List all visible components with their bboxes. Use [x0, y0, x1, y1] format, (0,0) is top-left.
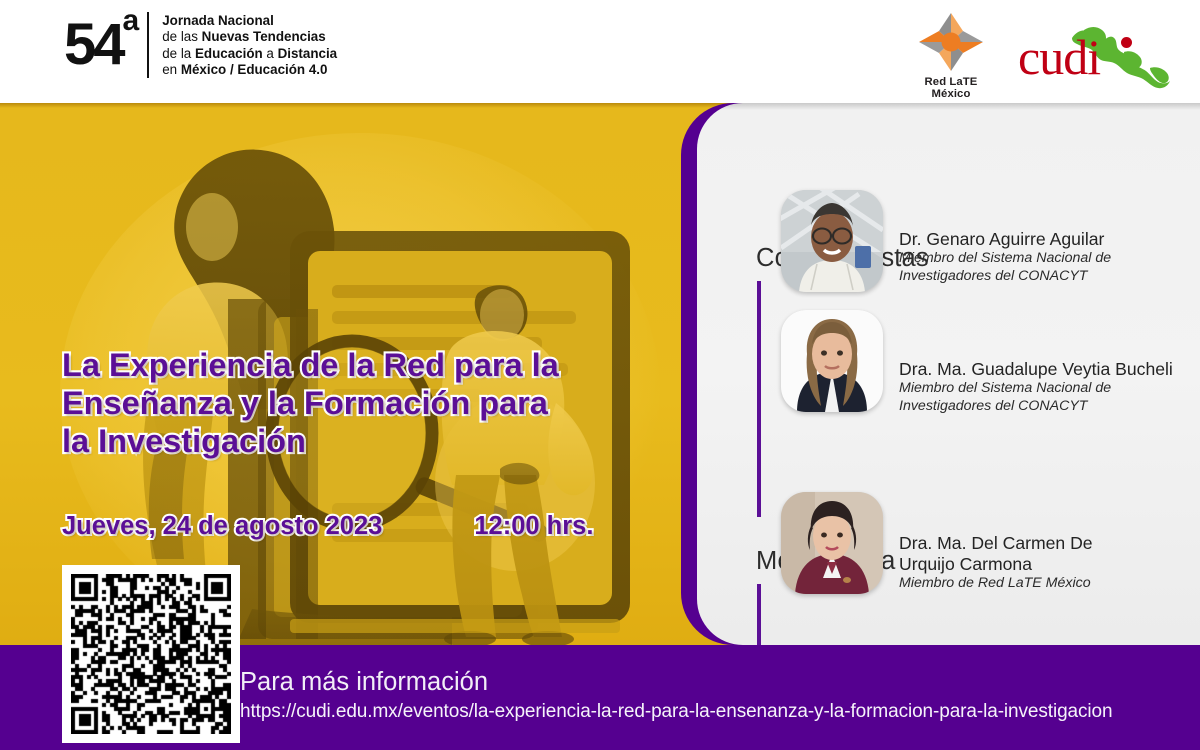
event-title: La Experiencia de la Red para la Enseñan… [62, 346, 662, 460]
speaker-name: Dra. Ma. Guadalupe Veytia Bucheli [899, 359, 1173, 380]
qr-code-icon[interactable] [62, 565, 240, 743]
more-info-block: Para más información https://cudi.edu.mx… [240, 667, 1112, 724]
cudi-dot-accent [1121, 37, 1132, 48]
speaker-role-line-1: Miembro del Sistema Nacional de [899, 380, 1173, 398]
jornada-line-2-bold: Nuevas Tendencias [202, 29, 326, 44]
moderator-name-line-1: Dra. Ma. Del Carmen De [899, 533, 1093, 554]
jornada-line-4-light: en [162, 62, 181, 77]
jornada-line-2: de las Nuevas Tendencias [162, 29, 337, 45]
speaker-role-line-2: Investigadores del CONACYT [899, 398, 1173, 416]
speaker-info: Dr. Genaro Aguirre Aguilar Miembro del S… [899, 229, 1111, 285]
moderator-name-line-2: Urquijo Carmona [899, 554, 1093, 575]
jornada-line-3-light: de la [162, 46, 195, 61]
jornada-line-1-text: Jornada Nacional [162, 13, 274, 28]
red-late-mexico-logo: Red LaTE México [905, 11, 997, 100]
event-title-line-3: la Investigación [62, 422, 662, 460]
more-info-label: Para más información [240, 667, 1112, 697]
speakers-card: Conferencistas [681, 103, 1200, 645]
jornada-line-3: de la Educación a Distancia [162, 46, 337, 62]
speaker-name: Dr. Genaro Aguirre Aguilar [899, 229, 1111, 250]
event-title-line-1: La Experiencia de la Red para la [62, 346, 662, 384]
jornada-line-3-bold-2: Distancia [278, 46, 338, 61]
moderator-info: Dra. Ma. Del Carmen De Urquijo Carmona M… [899, 533, 1093, 593]
jornada-line-3-bold-1: Educación [195, 46, 263, 61]
edition-number: 54a [64, 16, 138, 74]
speaker-role-line-1: Miembro del Sistema Nacional de [899, 250, 1111, 268]
edition-number-ordinal: a [123, 4, 139, 37]
red-late-mexico-label: Red LaTE México [905, 76, 997, 100]
moderator-role: Miembro de Red LaTE México [899, 575, 1093, 593]
conferencistas-accent-bar [757, 281, 761, 517]
speaker-role-line-2: Investigadores del CONACYT [899, 268, 1111, 286]
cudi-logo: cudi [1012, 22, 1172, 94]
qr-code-canvas [71, 574, 231, 734]
speakers-card-content: Conferencistas [697, 103, 1200, 645]
avatar [781, 310, 883, 412]
cudi-wordmark: cudi [1018, 32, 1100, 82]
event-time: 12:00 hrs. [474, 511, 593, 541]
jornada-line-4-bold: México / Educación 4.0 [181, 62, 328, 77]
event-title-line-2: Enseñanza y la Formación para [62, 384, 662, 422]
event-url[interactable]: https://cudi.edu.mx/eventos/la-experienc… [240, 700, 1112, 724]
edition-number-value: 54 [64, 12, 123, 77]
avatar [781, 190, 883, 292]
speaker-info: Dra. Ma. Guadalupe Veytia Bucheli Miembr… [899, 359, 1173, 415]
avatar [781, 492, 883, 594]
jornada-line-3-light-2: a [263, 46, 278, 61]
event-poster: 54a Jornada Nacional de las Nuevas Tende… [0, 0, 1200, 750]
jornada-line-4: en México / Educación 4.0 [162, 62, 337, 78]
jornada-title-lines: Jornada Nacional de las Nuevas Tendencia… [162, 12, 337, 78]
jornada-line-2-light: de las [162, 29, 201, 44]
four-point-star-icon [917, 11, 985, 73]
logo-divider [147, 12, 149, 78]
jornada-line-1: Jornada Nacional [162, 13, 337, 29]
event-datetime: Jueves, 24 de agosto 2023 12:00 hrs. [62, 511, 662, 541]
jornada-logo-lockup: 54a Jornada Nacional de las Nuevas Tende… [64, 12, 337, 78]
event-date: Jueves, 24 de agosto 2023 [62, 511, 382, 541]
poster-header: 54a Jornada Nacional de las Nuevas Tende… [0, 0, 1200, 103]
